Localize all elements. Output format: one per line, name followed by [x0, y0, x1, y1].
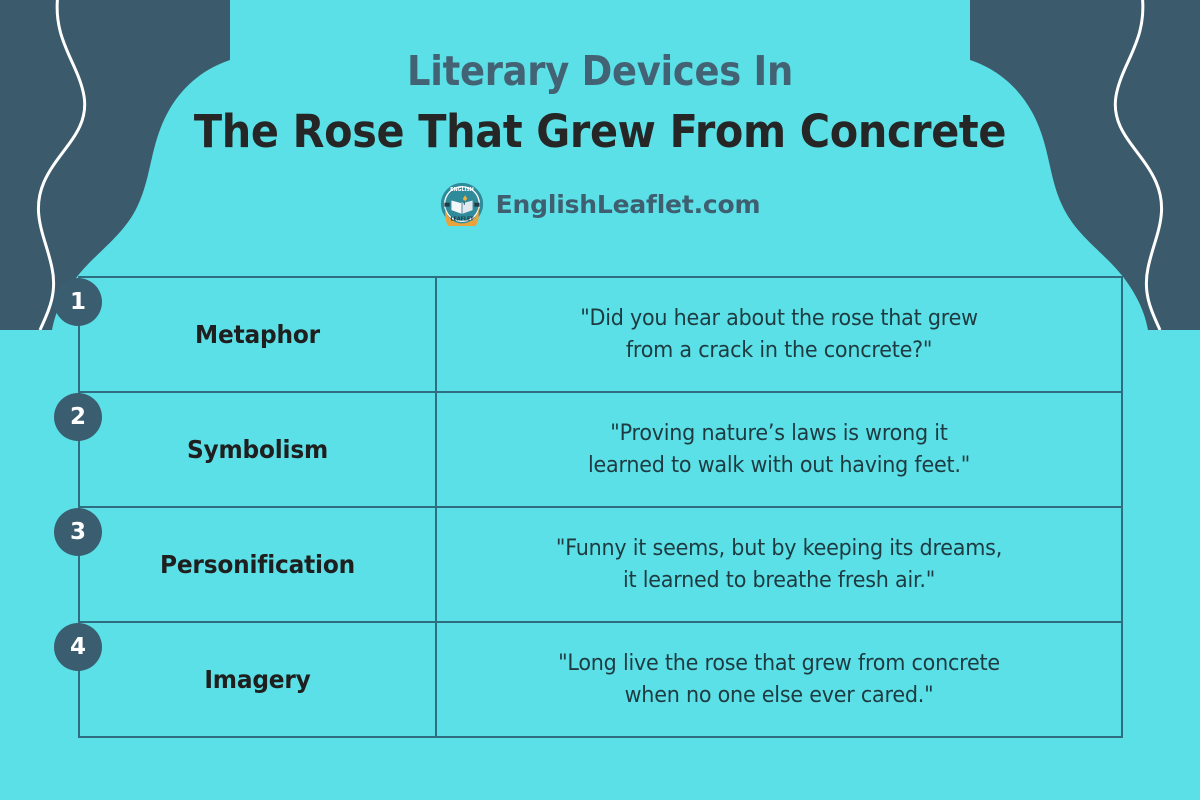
- row-number-badge: 3: [54, 508, 102, 556]
- poster-header: Literary Devices In The Rose That Grew F…: [0, 0, 1200, 226]
- english-leaflet-badge-icon: ENGLISH LEAFLET: [440, 182, 484, 226]
- quote-line: from a crack in the concrete?": [474, 335, 1085, 367]
- quote-line: "Did you hear about the rose that grew: [474, 303, 1085, 335]
- literary-devices-table: Metaphor "Did you hear about the rose th…: [78, 276, 1123, 738]
- device-name-cell: Metaphor: [91, 277, 423, 392]
- quote-line: "Funny it seems, but by keeping its drea…: [474, 533, 1085, 565]
- quote-line: it learned to breathe fresh air.": [474, 565, 1085, 597]
- quote-line: "Long live the rose that grew from concr…: [474, 648, 1085, 680]
- row-number-badge: 4: [54, 623, 102, 671]
- device-quote-cell: "Long live the rose that grew from concr…: [463, 622, 1094, 737]
- table-row: Metaphor "Did you hear about the rose th…: [79, 277, 1122, 392]
- device-name-cell: Personification: [91, 507, 423, 622]
- row-number-badge: 1: [54, 278, 102, 326]
- svg-text:LEAFLET: LEAFLET: [450, 217, 474, 223]
- svg-text:ENGLISH: ENGLISH: [450, 187, 474, 193]
- table-row: Personification "Funny it seems, but by …: [79, 507, 1122, 622]
- literary-devices-table-wrap: Metaphor "Did you hear about the rose th…: [78, 276, 1123, 738]
- table-row: Symbolism "Proving nature’s laws is wron…: [79, 392, 1122, 507]
- quote-line: "Proving nature’s laws is wrong it: [474, 418, 1085, 450]
- quote-line: learned to walk with out having feet.": [474, 450, 1085, 482]
- page-title-line-1: Literary Devices In: [60, 0, 1140, 95]
- device-quote-cell: "Proving nature’s laws is wrong it learn…: [463, 392, 1094, 507]
- row-number-badge: 2: [54, 393, 102, 441]
- device-name-cell: Symbolism: [91, 392, 423, 507]
- device-quote-cell: "Did you hear about the rose that grew f…: [463, 277, 1094, 392]
- brand-name-label: EnglishLeaflet.com: [496, 190, 761, 219]
- device-name-cell: Imagery: [91, 622, 423, 737]
- poster-canvas: Literary Devices In The Rose That Grew F…: [0, 0, 1200, 800]
- quote-line: when no one else ever cared.": [474, 680, 1085, 712]
- table-row: Imagery "Long live the rose that grew fr…: [79, 622, 1122, 737]
- device-quote-cell: "Funny it seems, but by keeping its drea…: [463, 507, 1094, 622]
- page-title-line-2: The Rose That Grew From Concrete: [48, 95, 1152, 158]
- brand-lockup: ENGLISH LEAFLET EnglishLeaflet.com: [0, 182, 1200, 226]
